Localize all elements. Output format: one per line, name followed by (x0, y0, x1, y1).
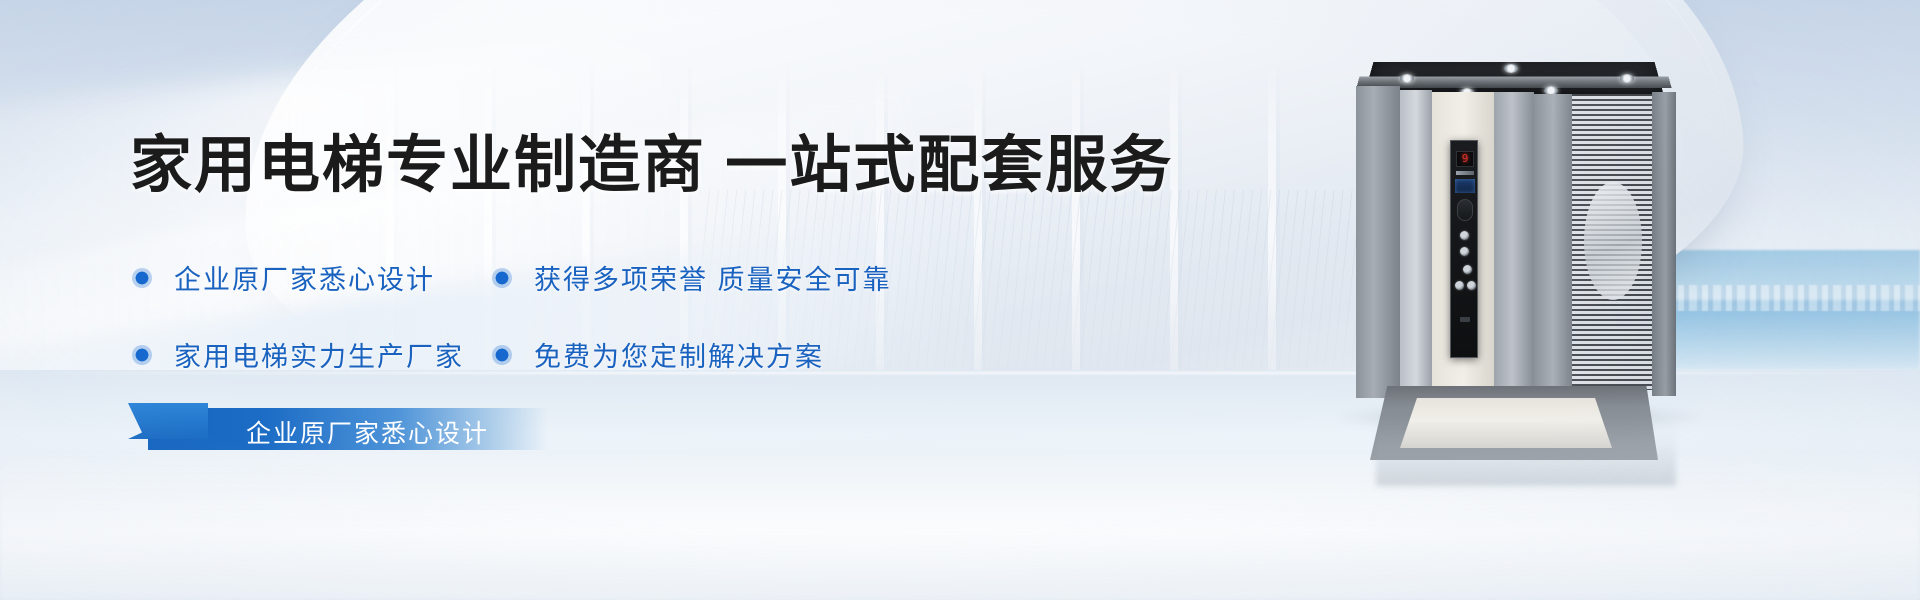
bullet-dot-icon (492, 345, 512, 365)
feature-item-1: 企业原厂家悉心设计 (132, 258, 492, 297)
feature-item-3: 家用电梯实力生产厂家 (132, 335, 492, 374)
bullet-dot-icon (132, 345, 152, 365)
ribbon-tab-icon (128, 403, 208, 439)
ceiling-light-icon (1620, 74, 1634, 83)
elevator-image: 9 (1356, 44, 1676, 414)
feature-label: 企业原厂家悉心设计 (174, 258, 435, 297)
feature-item-4: 免费为您定制解决方案 (492, 335, 952, 374)
bullet-dot-icon (492, 268, 512, 288)
lcd-screen (1455, 179, 1475, 193)
feature-row: 家用电梯实力生产厂家 免费为您定制解决方案 (132, 335, 1032, 374)
hero-banner: 9 家用电梯专业制造商 一站式配套服务 企业原厂家悉心设计 (0, 0, 1920, 600)
cabin-panel-a (1400, 90, 1432, 398)
ceiling-light-icon (1504, 64, 1518, 73)
bullet-dot-icon (132, 268, 152, 288)
brand-plate (1456, 171, 1474, 175)
feature-label: 获得多项荣誉 质量安全可靠 (534, 258, 892, 297)
feature-item-2: 获得多项荣誉 质量安全可靠 (492, 258, 952, 297)
floor-button[interactable] (1460, 231, 1469, 240)
floor-display-digit: 9 (1457, 153, 1473, 165)
ceiling-light-icon (1400, 74, 1414, 83)
banner-content: 家用电梯专业制造商 一站式配套服务 企业原厂家悉心设计 获得多项荣誉 质量安全可… (0, 0, 1100, 600)
floor-button[interactable] (1463, 265, 1472, 274)
elevator-reflection (1376, 416, 1676, 486)
speaker-grille-icon (1457, 199, 1473, 221)
page-title: 家用电梯专业制造商 一站式配套服务 (130, 114, 1173, 204)
floor-button[interactable] (1460, 247, 1469, 256)
feature-list: 企业原厂家悉心设计 获得多项荣誉 质量安全可靠 家用电梯实力生产厂家 免费为您定… (132, 258, 1032, 412)
cabin-wall-right (1652, 92, 1676, 396)
cabin-panel-c (1534, 94, 1572, 394)
key-slot-icon (1460, 317, 1470, 322)
ribbon-label: 企业原厂家悉心设计 (246, 414, 489, 450)
feature-label: 家用电梯实力生产厂家 (174, 335, 464, 374)
door-close-button[interactable] (1467, 281, 1476, 290)
highlight-ribbon[interactable]: 企业原厂家悉心设计 (128, 408, 548, 450)
elevator-cabin: 9 (1356, 86, 1676, 404)
feature-label: 免费为您定制解决方案 (534, 335, 824, 374)
door-open-button[interactable] (1455, 281, 1464, 290)
cabin-panel-b (1494, 92, 1534, 396)
cabin-wall-left (1356, 86, 1400, 398)
elevator-control-panel[interactable]: 9 (1450, 140, 1478, 358)
cabin-mirror-oval (1584, 182, 1642, 300)
feature-row: 企业原厂家悉心设计 获得多项荣誉 质量安全可靠 (132, 258, 1032, 297)
